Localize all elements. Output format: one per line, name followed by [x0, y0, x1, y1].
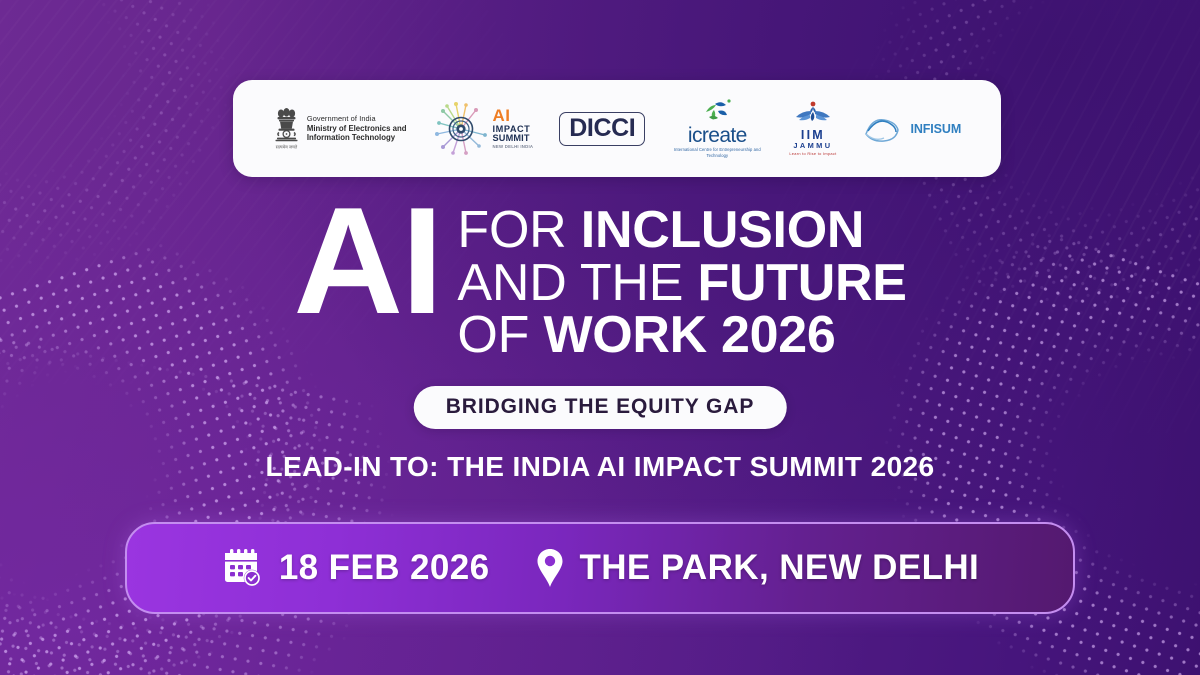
icreate-leaf-icon: [700, 98, 734, 124]
logo-iim-jammu: IIM JAMMU Learn to Rise to Impact: [789, 101, 836, 156]
icreate-tagline: International Centre for Entrepreneurshi…: [671, 147, 763, 158]
headline-line-1-bold: INCLUSION: [581, 201, 864, 259]
infinity-ribbon-icon: [862, 114, 908, 144]
halftone-dots-bottom-left-2: [0, 331, 534, 675]
dicci-label: DICCI: [559, 112, 645, 146]
ais-line-ai: AI: [493, 107, 534, 124]
iim-line-2: JAMMU: [793, 142, 832, 150]
headline-line-2-light: AND THE: [457, 254, 697, 312]
event-info-bar: 18 FEB 2026 THE PARK, NEW DELHI: [125, 522, 1075, 614]
logo-ai-impact-summit: AI IMPACT SUMMIT NEW DELHI INDIA: [433, 101, 534, 157]
iim-wings-icon: [792, 101, 834, 129]
logo-dicci: DICCI: [559, 112, 645, 146]
partner-logo-bar: सत्यमेव जयते Government of India Ministr…: [233, 80, 1001, 177]
headline-line-1: FOR INCLUSION: [457, 204, 906, 257]
neural-radial-icon: [433, 101, 489, 157]
goi-line-3: Information Technology: [307, 133, 407, 143]
location-pin-icon: [535, 547, 565, 589]
event-date-label: 18 FEB 2026: [279, 548, 490, 588]
event-poster: सत्यमेव जयते Government of India Ministr…: [0, 0, 1200, 675]
headline-block: AI FOR INCLUSION AND THE FUTURE OF WORK …: [0, 198, 1200, 362]
infisum-label: INFISUM: [910, 122, 961, 136]
headline-line-3-bold: WORK 2026: [543, 306, 835, 364]
icreate-label: icreate: [688, 125, 747, 146]
ais-line-summit: SUMMIT: [493, 134, 534, 143]
logo-government-of-india: सत्यमेव जयते Government of India Ministr…: [273, 106, 407, 152]
headline-line-2: AND THE FUTURE: [457, 257, 906, 310]
iim-tagline: Learn to Rise to Impact: [789, 151, 836, 156]
ashoka-emblem-icon: सत्यमेव जयते: [273, 106, 300, 152]
goi-line-1: Government of India: [307, 114, 407, 123]
headline-lines: FOR INCLUSION AND THE FUTURE OF WORK 202…: [457, 198, 906, 362]
event-venue-item: THE PARK, NEW DELHI: [535, 547, 979, 589]
logo-infisum: INFISUM: [862, 114, 961, 144]
headline-line-3-light: OF: [457, 306, 543, 364]
lead-in-text: LEAD-IN TO: THE INDIA AI IMPACT SUMMIT 2…: [0, 451, 1200, 483]
ais-line-city: NEW DELHI INDIA: [493, 145, 534, 149]
subtitle-pill: BRIDGING THE EQUITY GAP: [414, 386, 787, 429]
event-venue-label: THE PARK, NEW DELHI: [579, 548, 979, 588]
event-date-item: 18 FEB 2026: [221, 546, 490, 590]
headline-line-3: OF WORK 2026: [457, 309, 906, 362]
headline-ai-mark: AI: [293, 192, 441, 332]
logo-icreate: icreate International Centre for Entrepr…: [671, 98, 763, 158]
goi-line-2: Ministry of Electronics and: [307, 124, 407, 134]
svg-text:सत्यमेव जयते: सत्यमेव जयते: [276, 144, 298, 149]
headline-line-2-bold: FUTURE: [698, 254, 907, 312]
calendar-check-icon: [221, 546, 265, 590]
headline-line-1-light: FOR: [457, 201, 580, 259]
